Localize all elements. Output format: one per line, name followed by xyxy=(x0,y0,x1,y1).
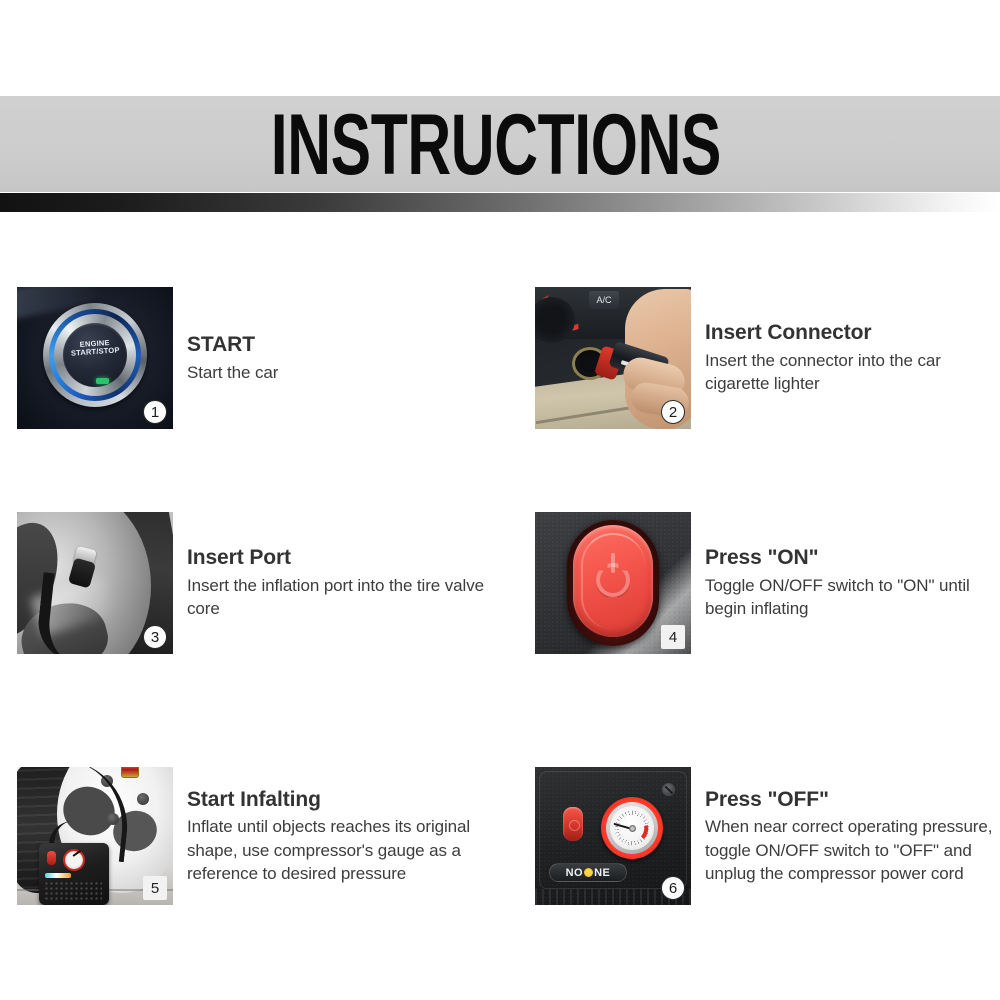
step-item-1: ENGINE START/STOP 1 START Start the car xyxy=(17,287,487,429)
step-heading: START xyxy=(187,332,278,358)
step-caption: Insert Connector Insert the connector in… xyxy=(691,320,995,396)
header-gradient-rule xyxy=(0,193,1000,212)
step-body: When near correct operating pressure, to… xyxy=(705,815,995,885)
compressor-vent-grille xyxy=(44,881,102,901)
step-item-6: NO NE 6 Press "OFF" When near correct op… xyxy=(535,767,1000,905)
step-body: Insert the inflation port into the tire … xyxy=(187,574,487,621)
start-stop-knob: ENGINE START/STOP xyxy=(63,323,127,387)
ac-button-label: A/C xyxy=(589,291,619,309)
step-caption: Press "OFF" When near correct operating … xyxy=(691,787,995,886)
step-caption: Start Infalting Inflate until objects re… xyxy=(173,787,487,886)
header-band: INSTRUCTIONS xyxy=(0,96,1000,192)
step-heading: Start Infalting xyxy=(187,787,487,813)
step-number-badge: 6 xyxy=(661,876,685,900)
step-photo-engine-start-stop-button: ENGINE START/STOP 1 xyxy=(17,287,173,429)
step-caption: Press "ON" Toggle ON/OFF switch to "ON" … xyxy=(691,545,995,621)
step-caption: START Start the car xyxy=(173,332,278,384)
step-number-badge: 3 xyxy=(143,625,167,649)
start-stop-knob-label: ENGINE START/STOP xyxy=(63,338,128,359)
compressor-power-button xyxy=(47,851,56,865)
page-title: INSTRUCTIONS xyxy=(90,88,910,199)
screw-icon xyxy=(662,783,675,796)
green-led-indicator xyxy=(96,378,109,384)
step-photo-compressor-panel-with-pressure-gauge: NO NE 6 xyxy=(535,767,691,905)
step-item-2: A/C 2 Insert Connector Insert the connec… xyxy=(535,287,1000,429)
compressor-brand-label xyxy=(45,873,71,878)
step-heading: Insert Connector xyxy=(705,320,995,346)
step-caption: Insert Port Insert the inflation port in… xyxy=(173,545,487,621)
step-body: Start the car xyxy=(187,361,278,384)
step-heading: Press "OFF" xyxy=(705,787,995,813)
steps-grid: ENGINE START/STOP 1 START Start the car … xyxy=(0,212,1000,1000)
wheel-center-crest xyxy=(121,767,139,778)
power-icon-bar xyxy=(611,553,615,573)
brand-text-left: NO xyxy=(566,867,584,879)
step-number-badge: 5 xyxy=(143,876,167,900)
gauge-dial-face xyxy=(610,806,654,850)
step-heading: Insert Port xyxy=(187,545,487,571)
brand-text-right: NE xyxy=(594,867,610,879)
step-photo-cigarette-lighter-socket-with-plug: A/C 2 xyxy=(535,287,691,429)
step-heading: Press "ON" xyxy=(705,545,995,571)
gauge-hub xyxy=(629,825,636,832)
step-number-badge: 4 xyxy=(661,625,685,649)
step-photo-compressor-inflating-car-tire: 5 xyxy=(17,767,173,905)
step-body: Inflate until objects reaches its origin… xyxy=(187,815,487,885)
step-photo-red-power-button: 4 xyxy=(535,512,691,654)
step-item-3: 3 Insert Port Insert the inflation port … xyxy=(17,512,487,654)
compressor-power-button xyxy=(563,807,583,841)
step-number-badge: 2 xyxy=(661,400,685,424)
wheel-lug-nut xyxy=(137,793,149,805)
instructions-page: INSTRUCTIONS ENGINE START/STOP 1 xyxy=(0,0,1000,1000)
step-item-5: 5 Start Infalting Inflate until objects … xyxy=(17,767,487,905)
brand-o-icon xyxy=(584,868,593,877)
compressor-pressure-gauge xyxy=(63,849,85,871)
step-photo-tire-valve-with-inflation-hose: 3 xyxy=(17,512,173,654)
step-item-4: 4 Press "ON" Toggle ON/OFF switch to "ON… xyxy=(535,512,1000,654)
step-body: Toggle ON/OFF switch to "ON" until begin… xyxy=(705,574,995,621)
step-body: Insert the connector into the car cigare… xyxy=(705,349,995,396)
brand-badge: NO NE xyxy=(549,863,627,882)
step-number-badge: 1 xyxy=(143,400,167,424)
